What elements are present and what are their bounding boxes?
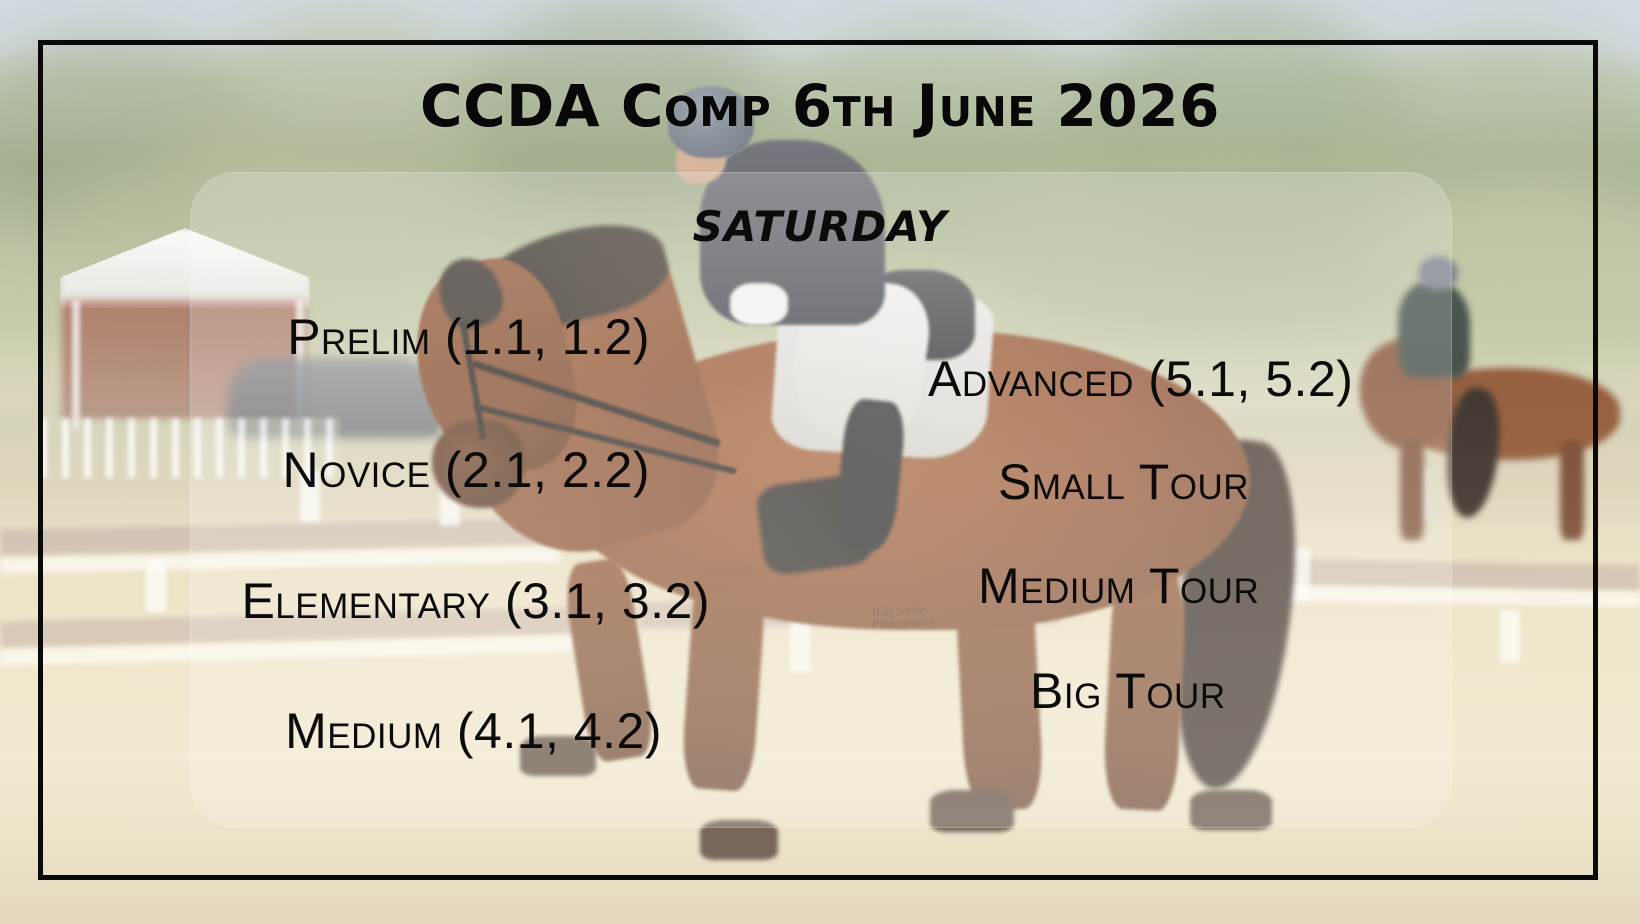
- class-item-medium-tour: Medium Tour: [978, 557, 1448, 615]
- class-item-big-tour: Big Tour: [1030, 662, 1450, 720]
- class-item-prelim: Prelim (1.1, 1.2): [140, 308, 650, 366]
- poster-canvas: Half Stride Photography CCDA Comp 6th Ju…: [0, 0, 1640, 924]
- tent-pole: [72, 300, 80, 430]
- class-item-elementary: Elementary (3.1, 3.2): [140, 572, 710, 630]
- class-item-medium: Medium (4.1, 4.2): [140, 702, 662, 760]
- poster-title: CCDA Comp 6th June 2026: [0, 72, 1640, 140]
- background-horse-leg: [1560, 440, 1584, 540]
- rail-post: [1500, 610, 1520, 662]
- poster-subtitle: SATURDAY: [0, 202, 1640, 251]
- class-item-advanced: Advanced (5.1, 5.2): [928, 350, 1448, 408]
- photographer-watermark: Half Stride Photography: [871, 601, 982, 635]
- class-item-small-tour: Small Tour: [998, 453, 1448, 511]
- class-item-novice: Novice (2.1, 2.2): [140, 441, 650, 499]
